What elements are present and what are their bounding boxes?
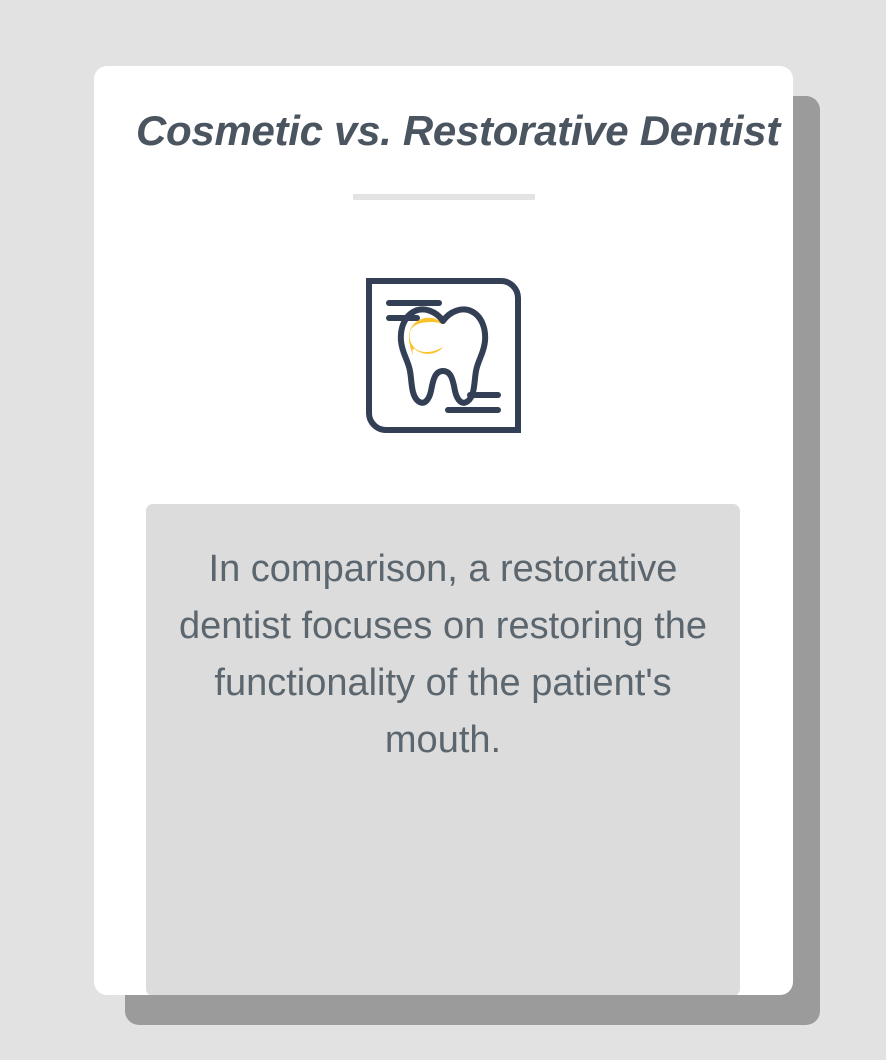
card-title: Cosmetic vs. Restorative Dentist: [136, 107, 766, 155]
dental-xray-tooth-icon: [366, 278, 521, 433]
title-divider: [353, 194, 535, 200]
slide-canvas: Cosmetic vs. Restorative Dentist: [0, 0, 886, 1060]
content-card: Cosmetic vs. Restorative Dentist: [94, 66, 793, 995]
body-text-panel: In comparison, a restorative dentist foc…: [146, 504, 740, 995]
body-text: In comparison, a restorative dentist foc…: [146, 541, 740, 769]
